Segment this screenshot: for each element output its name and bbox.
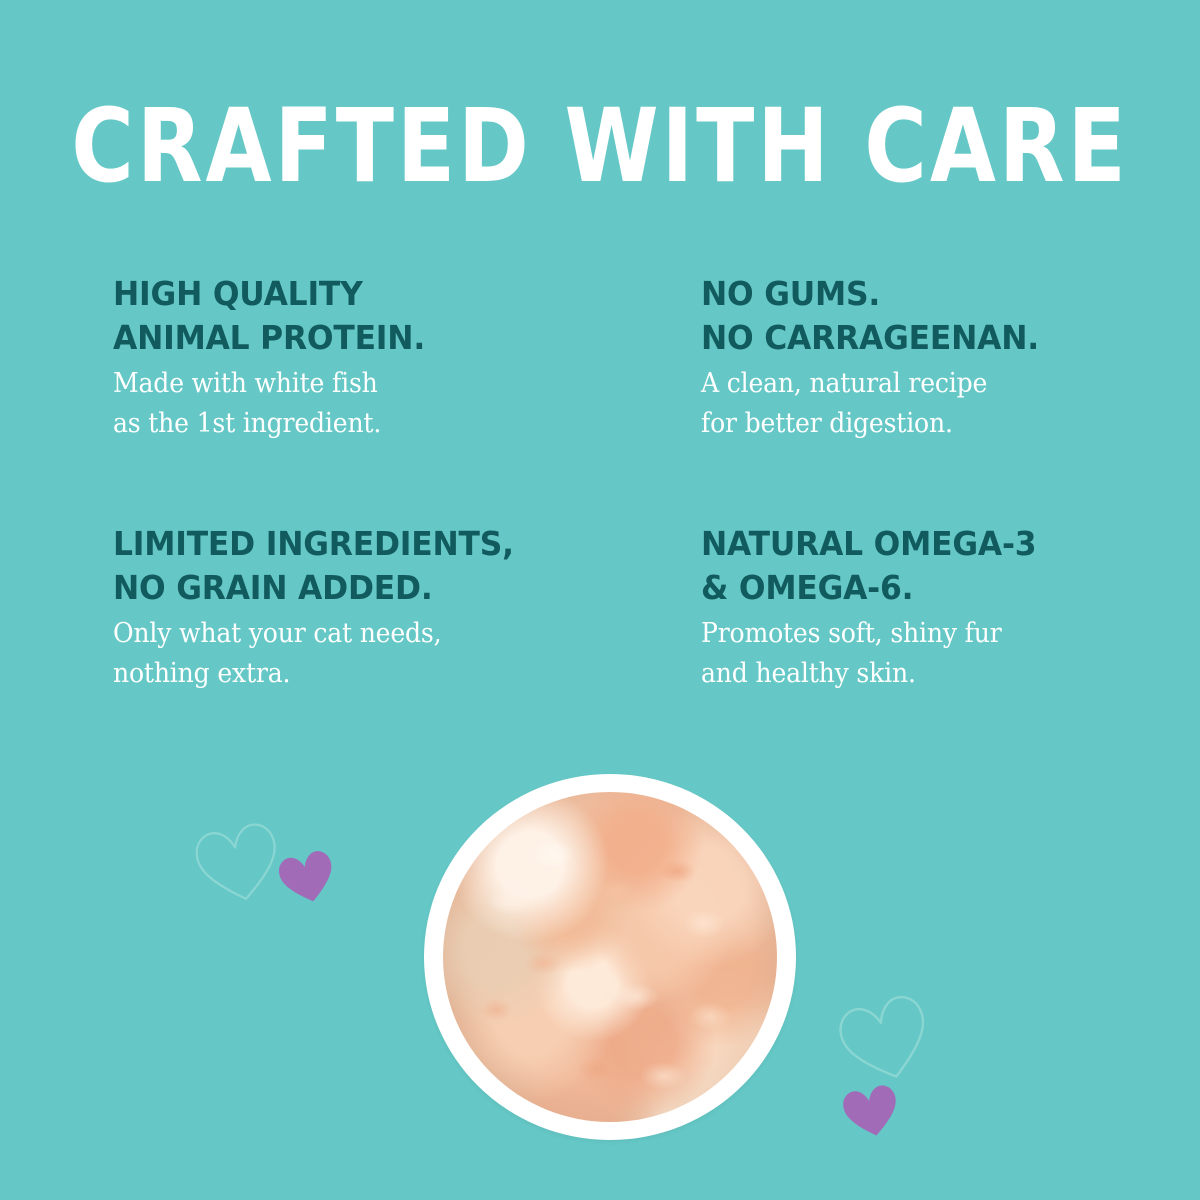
cat-food-shading [443,792,777,1122]
feature-natural-omega-3-omega-6: NATURAL OMEGA-3 & OMEGA-6. Promotes soft… [701,522,1113,702]
feature-high-quality-animal-protein: HIGH QUALITY ANIMAL PROTEIN. Made with w… [113,272,701,522]
heart-outline-icon [192,816,284,906]
feature-heading: LIMITED INGREDIENTS, NO GRAIN ADDED. [113,522,672,610]
poster-canvas: CRAFTED WITH CARE HIGH QUALITY ANIMAL PR… [0,0,1200,1200]
feature-body: Only what your cat needs, nothing extra. [113,614,660,694]
page-title: CRAFTED WITH CARE [18,88,1182,204]
feature-heading: NATURAL OMEGA-3 & OMEGA-6. [701,522,1092,610]
feature-body: A clean, natural recipe for better diges… [701,364,1084,444]
cat-food-contents [443,792,777,1122]
heart-filled-icon [276,845,338,907]
feature-body: Made with white fish as the 1st ingredie… [113,364,660,444]
heart-outline-icon [836,990,934,1084]
heart-filled-icon [840,1080,902,1140]
feature-heading: NO GUMS. NO CARRAGEENAN. [701,272,1092,360]
feature-body: Promotes soft, shiny fur and healthy ski… [701,614,1084,694]
cat-food-bowl [424,774,796,1140]
feature-limited-ingredients-no-grain-added: LIMITED INGREDIENTS, NO GRAIN ADDED. Onl… [113,522,701,702]
feature-no-gums-no-carrageenan: NO GUMS. NO CARRAGEENAN. A clean, natura… [701,272,1113,522]
feature-heading: HIGH QUALITY ANIMAL PROTEIN. [113,272,672,360]
feature-grid: HIGH QUALITY ANIMAL PROTEIN. Made with w… [113,272,1113,702]
